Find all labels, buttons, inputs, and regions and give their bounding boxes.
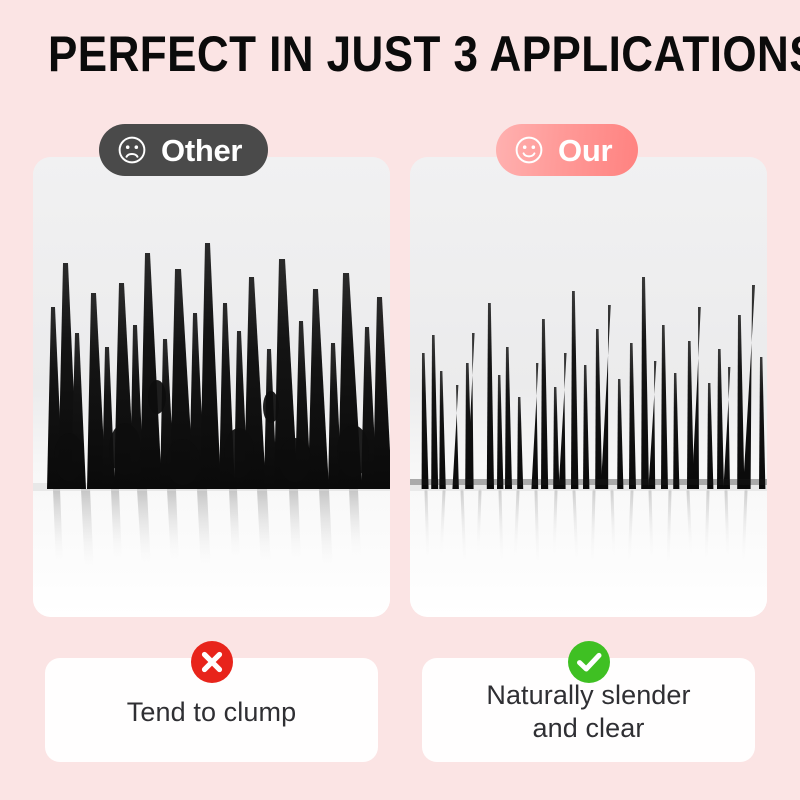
- photo-card-our: [410, 157, 767, 617]
- check-circle-icon: [566, 639, 612, 685]
- badge-our: Our: [496, 124, 638, 176]
- smiley-face-icon: [514, 135, 544, 165]
- caption-text-our: Naturally slender and clear: [486, 679, 690, 745]
- lash-photo-slender: [410, 157, 767, 617]
- photo-card-other: [33, 157, 390, 617]
- sad-face-icon: [117, 135, 147, 165]
- badge-our-label: Our: [558, 135, 612, 166]
- comparison-columns: Other: [0, 157, 800, 777]
- badge-other-label: Other: [161, 135, 242, 166]
- badge-other: Other: [99, 124, 268, 176]
- page-title: PERFECT IN JUST 3 APPLICATIONS: [48, 26, 752, 82]
- cross-circle-icon: [189, 639, 235, 685]
- lash-photo-clumped: [33, 157, 390, 617]
- caption-text-other: Tend to clump: [127, 696, 296, 729]
